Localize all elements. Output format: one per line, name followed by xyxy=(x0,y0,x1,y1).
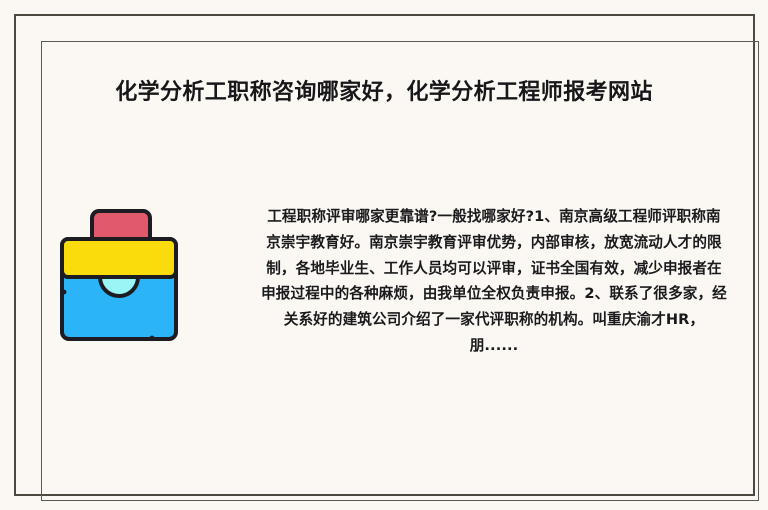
content-stage: 化学分析工职称咨询哪家好，化学分析工程师报考网站 工程职称评审哪家更靠谱?一般找… xyxy=(26,26,742,484)
briefcase-rivet-left xyxy=(62,290,67,295)
article-preview-page: { "page": { "background_color": "#FBF8F3… xyxy=(0,0,768,510)
briefcase-latch xyxy=(100,277,138,296)
article-body-text: 工程职称评审哪家更靠谱?一般找哪家好?1、南京高级工程师评职称南京崇宇教育好。南… xyxy=(260,204,728,359)
briefcase-lid xyxy=(62,239,176,277)
briefcase-icon xyxy=(54,192,184,352)
briefcase-rivet-bottom xyxy=(150,336,155,341)
page-title: 化学分析工职称咨询哪家好，化学分析工程师报考网站 xyxy=(26,78,742,108)
briefcase-illustration xyxy=(54,192,184,352)
